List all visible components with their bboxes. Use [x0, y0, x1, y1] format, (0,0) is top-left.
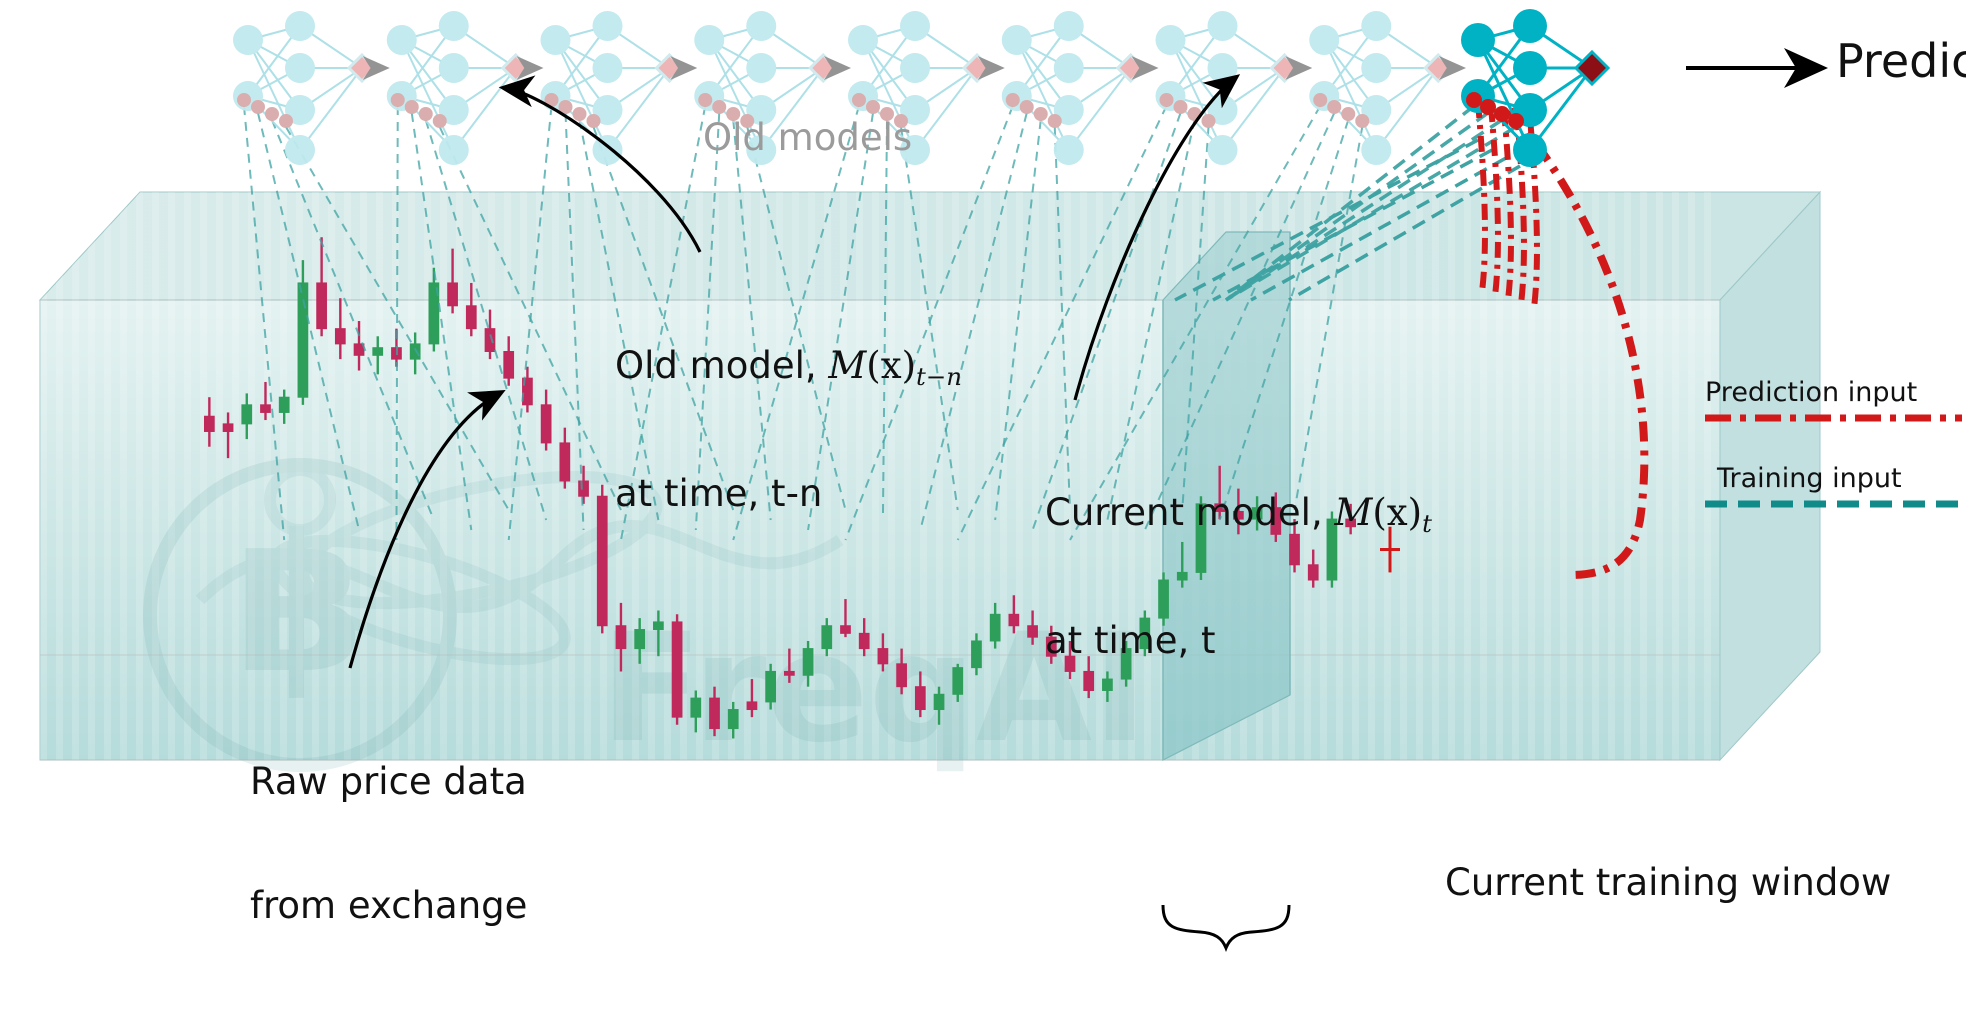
old-model-network — [387, 11, 538, 165]
candle-body — [934, 694, 944, 709]
model-input-dot — [712, 100, 726, 114]
candle-body — [560, 443, 570, 481]
candle-body — [915, 687, 925, 710]
candle-body — [410, 344, 420, 359]
model-input-dot — [1313, 93, 1327, 107]
model-input-dot — [251, 100, 265, 114]
box-stripe — [1576, 192, 1583, 792]
old-model-network — [1156, 11, 1307, 165]
current-model-time-text: at time, t — [1045, 620, 1432, 661]
candle-body — [728, 710, 738, 729]
candle-body — [822, 626, 832, 649]
old-model-subscript: t−n — [916, 362, 962, 391]
box-stripe — [152, 192, 159, 792]
old-model-text: Old model, — [615, 344, 828, 387]
network-node — [746, 11, 776, 41]
network-node — [439, 135, 469, 165]
model-input-dot — [587, 114, 601, 128]
model-input-dot — [279, 114, 293, 128]
model-input-dot — [1480, 99, 1496, 115]
candle-body — [803, 649, 813, 676]
candle-body — [897, 664, 907, 687]
old-model-math-m: M — [828, 344, 866, 387]
network-node — [1361, 53, 1391, 83]
network-node — [1208, 11, 1238, 41]
model-input-dot — [1006, 93, 1020, 107]
old-model-output-diamond — [1272, 55, 1298, 81]
candle-body — [878, 649, 888, 664]
figure-root: ฿ FreqAI — [0, 0, 1966, 981]
box-stripe — [1528, 192, 1535, 792]
network-node — [1054, 53, 1084, 83]
network-node — [1513, 51, 1547, 85]
candle-body — [373, 348, 383, 356]
model-input-dot — [433, 114, 447, 128]
old-model-network — [233, 11, 384, 165]
candle-body — [335, 329, 345, 344]
box-stripe — [136, 192, 143, 792]
network-node — [439, 11, 469, 41]
candle-body — [710, 698, 720, 728]
network-node — [233, 25, 263, 55]
network-node — [1156, 25, 1186, 55]
old-model-output-diamond — [657, 55, 683, 81]
candle-body — [616, 626, 626, 649]
old-model-output-diamond — [1118, 55, 1144, 81]
old-model-output-diamond — [964, 55, 990, 81]
candle-body — [1028, 626, 1038, 637]
network-node — [1208, 135, 1238, 165]
model-input-dot — [405, 100, 419, 114]
candle-body — [223, 424, 233, 432]
candle-body — [597, 496, 607, 626]
network-node — [593, 53, 623, 83]
box-stripe — [1592, 192, 1599, 792]
current-model-annotation: Current model, M(x)t at time, t — [1045, 409, 1432, 744]
model-input-dot — [866, 100, 880, 114]
old-model-time-text: at time, t-n — [615, 473, 962, 514]
raw-price-line1: Raw price data — [250, 761, 527, 802]
network-node — [746, 53, 776, 83]
network-node — [1513, 133, 1547, 167]
box-stripe — [88, 192, 95, 792]
box-stripe — [552, 192, 559, 792]
candle-body — [541, 405, 551, 443]
model-input-dot — [1034, 107, 1048, 121]
network-node — [1513, 9, 1547, 43]
candle-body — [635, 630, 645, 649]
candle-body — [504, 352, 514, 379]
current-model-math-x: (x) — [1372, 491, 1422, 534]
model-input-dot — [1466, 92, 1482, 108]
candle-body — [990, 614, 1000, 641]
network-node — [1054, 11, 1084, 41]
box-stripe — [1640, 192, 1647, 792]
old-model-output-diamond — [1425, 55, 1451, 81]
box-stripe — [104, 192, 111, 792]
model-input-dot — [1048, 114, 1062, 128]
box-stripe — [1464, 192, 1471, 792]
network-node — [439, 53, 469, 83]
box-stripe — [1656, 192, 1663, 792]
box-stripe — [1672, 192, 1679, 792]
old-model-network — [541, 11, 692, 165]
training-window-brace — [1163, 905, 1289, 948]
candle-body — [242, 405, 252, 424]
legend-label-training-input: Training input — [1717, 464, 1902, 494]
box-stripe — [568, 192, 575, 792]
candle-body — [279, 397, 289, 412]
network-node — [694, 25, 724, 55]
network-node — [593, 11, 623, 41]
candle-body — [747, 702, 757, 710]
current-model-subscript: t — [1422, 509, 1432, 538]
old-model-network — [1002, 11, 1153, 165]
candle-body — [654, 622, 664, 630]
network-node — [900, 11, 930, 41]
raw-price-line2: from exchange — [250, 885, 527, 926]
box-stripe — [1688, 192, 1695, 792]
network-node — [900, 53, 930, 83]
box-stripe — [40, 192, 47, 792]
old-model-network — [1309, 11, 1460, 165]
network-node — [1361, 135, 1391, 165]
candle-body — [672, 622, 682, 717]
candle-body — [1009, 614, 1019, 625]
network-node — [285, 11, 315, 41]
model-chain — [233, 9, 1608, 167]
model-input-dot — [698, 93, 712, 107]
model-input-dot — [419, 107, 433, 121]
network-node — [285, 53, 315, 83]
box-stripe — [56, 192, 63, 792]
current-model-math-m: M — [1334, 491, 1372, 534]
current-model-output-diamond — [1576, 52, 1608, 84]
prediction-label: Prediction — [1836, 36, 1966, 88]
box-stripe — [1624, 192, 1631, 792]
model-input-dot — [1020, 100, 1034, 114]
old-model-annotation: Old model, M(x)t−n at time, t-n — [615, 262, 962, 597]
model-input-dot — [265, 107, 279, 121]
old-model-output-diamond — [349, 55, 375, 81]
candle-body — [691, 698, 701, 717]
candle-body — [317, 283, 327, 329]
candle-body — [579, 481, 589, 496]
network-node — [1461, 23, 1495, 57]
candle-body — [261, 405, 271, 413]
current-training-window-label: Current training window — [1445, 862, 1891, 903]
candle-body — [448, 283, 458, 306]
network-node — [1002, 25, 1032, 55]
candle-body — [859, 633, 869, 648]
model-input-dot — [1355, 114, 1369, 128]
candle-body — [485, 329, 495, 352]
candle-body — [972, 641, 982, 668]
candle-body — [766, 671, 776, 701]
box-stripe — [1432, 192, 1439, 792]
network-node — [387, 25, 417, 55]
model-input-dot — [573, 107, 587, 121]
model-input-dot — [1508, 113, 1524, 129]
model-input-dot — [391, 93, 405, 107]
model-input-dot — [1494, 106, 1510, 122]
box-stripe — [1704, 192, 1711, 792]
raw-price-annotation: Raw price data from exchange — [250, 678, 527, 1010]
network-node — [848, 25, 878, 55]
candle-body — [841, 626, 851, 634]
candle-body — [466, 306, 476, 329]
model-input-dot — [1327, 100, 1341, 114]
model-input-dot — [852, 93, 866, 107]
model-input-dot — [237, 93, 251, 107]
old-model-output-diamond — [503, 55, 529, 81]
old-model-output-diamond — [810, 55, 836, 81]
candle-body — [784, 671, 794, 675]
box-stripe — [120, 192, 127, 792]
model-input-dot — [1160, 93, 1174, 107]
network-node — [1054, 135, 1084, 165]
model-input-dot — [1341, 107, 1355, 121]
network-node — [285, 135, 315, 165]
legend-label-prediction-input: Prediction input — [1705, 378, 1917, 408]
candle-body — [953, 668, 963, 695]
current-model-text: Current model, — [1045, 491, 1334, 534]
model-input-dot — [1174, 100, 1188, 114]
old-model-math-x: (x) — [866, 344, 916, 387]
old-models-label: Old models — [703, 117, 912, 158]
network-node — [1361, 11, 1391, 41]
box-stripe — [1512, 192, 1519, 792]
model-input-dot — [1202, 114, 1216, 128]
box-stripe — [1560, 192, 1567, 792]
candle-body — [204, 416, 214, 431]
box-stripe — [72, 192, 79, 792]
box-stripe — [1544, 192, 1551, 792]
box-stripe — [1448, 192, 1455, 792]
network-node — [1309, 25, 1339, 55]
network-node — [541, 25, 571, 55]
